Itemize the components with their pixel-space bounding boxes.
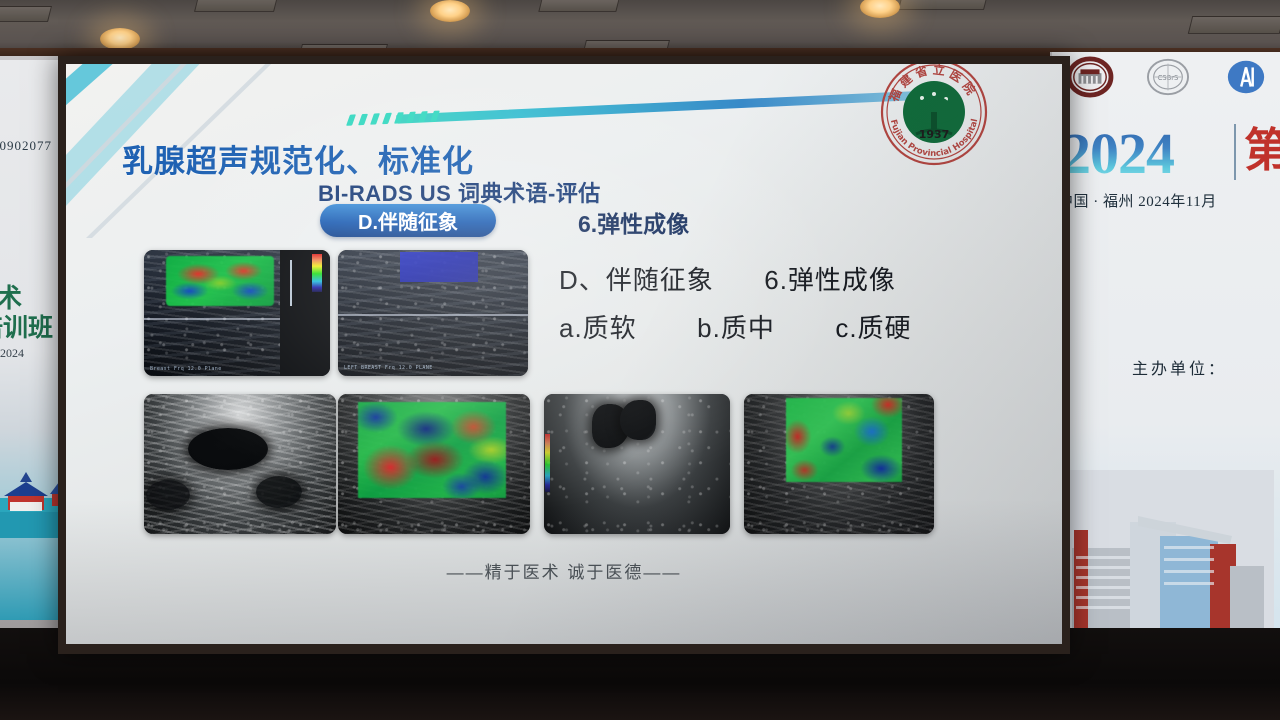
hospital-logo: 1937 福 建 省 立 医 院 Fujian Provincial Hospi… bbox=[876, 64, 992, 170]
body-line-1: D、伴随征象 6.弹性成像 bbox=[559, 260, 896, 297]
conference-red-char: 第 bbox=[1244, 114, 1280, 180]
ceiling-panel bbox=[1188, 16, 1280, 34]
ceiling-panel bbox=[0, 6, 52, 22]
year-divider bbox=[1234, 124, 1236, 180]
us-sidepanel bbox=[280, 250, 330, 376]
body-line-1-part1: D、伴随征象 bbox=[559, 265, 714, 295]
ceiling-downlight bbox=[430, 0, 470, 22]
body-line-2-part1: a.质软 bbox=[559, 313, 637, 343]
ultrasound-image-5 bbox=[544, 394, 730, 534]
body-line-2: a.质软 b.质中 c.质硬 bbox=[559, 308, 912, 345]
university-crest-icon bbox=[1066, 56, 1114, 98]
elasticity-colorbar bbox=[545, 434, 550, 492]
section-title: 6.弹性成像 bbox=[578, 205, 689, 239]
ultrasound-image-2: LEFT BREAST Frq 12.0 PLANE bbox=[338, 250, 528, 376]
slide-title: 乳腺超声规范化、标准化 bbox=[122, 136, 474, 181]
us-caption: LEFT BREAST Frq 12.0 PLANE bbox=[344, 365, 433, 371]
ceiling-panel bbox=[538, 0, 619, 12]
body-line-1-part2: 6.弹性成像 bbox=[764, 265, 896, 295]
title-accent-line bbox=[396, 89, 956, 123]
svg-text:1937: 1937 bbox=[919, 128, 950, 141]
slide-footer-motto: ——精于医术 诚于医德—— bbox=[66, 558, 1062, 583]
right-banner-logos: CSBrS bbox=[1066, 52, 1276, 102]
ceiling-panel bbox=[898, 0, 988, 10]
host-label: 主办单位： bbox=[1132, 355, 1227, 379]
ultrasound-image-6 bbox=[744, 394, 934, 534]
soft-roi-box bbox=[400, 252, 478, 282]
association-a-icon bbox=[1222, 56, 1270, 98]
lesion-region bbox=[146, 480, 190, 510]
conference-year: 2024 bbox=[1062, 120, 1174, 187]
panel-divider bbox=[338, 314, 528, 316]
us-measure-bar bbox=[290, 260, 292, 306]
elasticity-colorbar bbox=[312, 254, 322, 292]
left-banner-line2: 培训班 bbox=[0, 308, 53, 344]
society-seal-icon: CSBrS bbox=[1144, 56, 1192, 98]
ceiling-downlight bbox=[100, 28, 140, 50]
lesion-region bbox=[188, 428, 268, 470]
ceiling-panel bbox=[194, 0, 278, 12]
section-pill-badge: D.伴随征象 bbox=[320, 204, 496, 237]
elastography-overlay bbox=[166, 256, 274, 306]
left-banner-date: , 2024 bbox=[0, 346, 24, 361]
ultrasound-image-1: Breast Frq 12.0 Plane bbox=[144, 250, 330, 376]
elastography-overlay bbox=[358, 402, 506, 498]
ultrasound-image-3 bbox=[144, 394, 336, 534]
projected-slide: 乳腺超声规范化、标准化 BI-RADS US 词典术语-评估 D.伴随征象 6.… bbox=[66, 64, 1062, 644]
conference-location-date: 中国 · 福州 2024年11月 bbox=[1058, 190, 1217, 211]
right-banner: CSBrS 2024 第 中国 · 福州 2024年11月 主办单位： bbox=[1052, 52, 1280, 692]
us-caption: Breast Frq 12.0 Plane bbox=[150, 366, 222, 372]
body-line-2-part3: c.质硬 bbox=[835, 313, 911, 343]
screenshot-root: 40902077 术 培训班 , 2024 bbox=[0, 0, 1280, 720]
lesion-region bbox=[256, 476, 302, 508]
elastography-overlay bbox=[786, 398, 902, 482]
body-line-2-part2: b.质中 bbox=[697, 313, 775, 343]
lesion-region bbox=[620, 400, 656, 440]
ultrasound-image-4 bbox=[338, 394, 530, 534]
